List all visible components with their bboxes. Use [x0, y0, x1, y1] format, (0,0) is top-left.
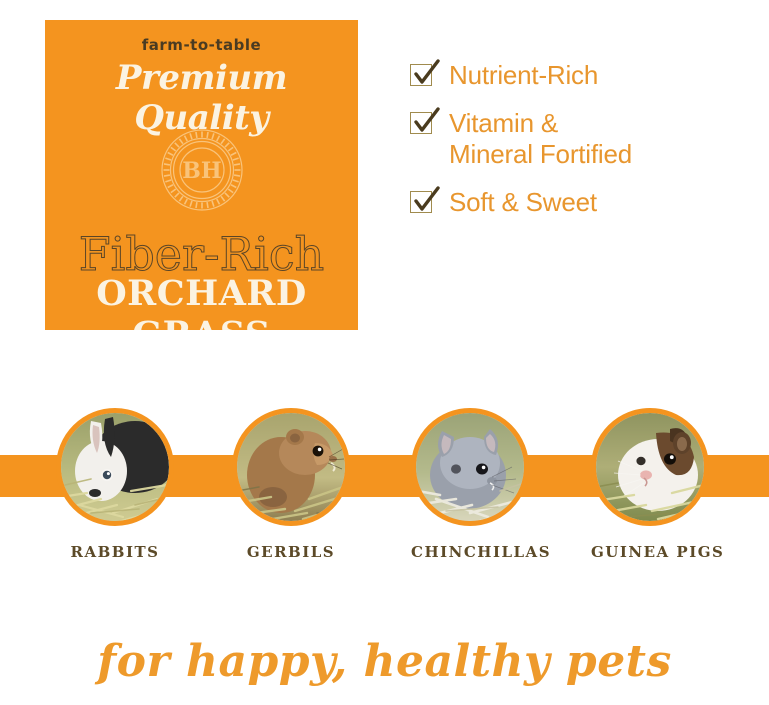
- eyebrow-text: farm-to-table: [45, 36, 358, 54]
- benefit-label: Soft & Sweet: [449, 187, 597, 218]
- rabbit-photo: [56, 408, 174, 526]
- hero-panel: farm-to-table Premium Quality: [45, 20, 358, 330]
- chinchilla-photo: [411, 408, 529, 526]
- checkbox-checked-icon: [410, 191, 435, 216]
- animal-label: RABBITS: [56, 543, 174, 561]
- brand-seal-icon: BH: [160, 128, 244, 212]
- benefits-checklist: Nutrient-Rich Vitamin & Mineral Fortifie…: [410, 60, 740, 235]
- premium-quality-script: Premium Quality: [45, 58, 358, 138]
- benefit-item-soft-sweet: Soft & Sweet: [410, 187, 740, 218]
- product-name-secondary: ORCHARD GRASS: [45, 273, 358, 330]
- benefit-item-nutrient-rich: Nutrient-Rich: [410, 60, 740, 91]
- animal-item-chinchillas[interactable]: CHINCHILLAS: [411, 408, 529, 561]
- benefit-item-vitamin-mineral: Vitamin & Mineral Fortified: [410, 108, 740, 170]
- guinea-pig-photo: [591, 408, 709, 526]
- animal-item-guinea-pigs[interactable]: GUINEA PIGS: [591, 408, 709, 561]
- seal-monogram-text: BH: [182, 158, 221, 184]
- benefit-label: Vitamin & Mineral Fortified: [449, 108, 632, 170]
- animal-item-rabbits[interactable]: RABBITS: [56, 408, 174, 561]
- footer-tagline: for happy, healthy pets: [0, 636, 769, 687]
- gerbil-photo: [232, 408, 350, 526]
- animal-label: CHINCHILLAS: [411, 543, 529, 561]
- checkbox-checked-icon: [410, 64, 435, 89]
- checkbox-checked-icon: [410, 112, 435, 137]
- benefit-label: Nutrient-Rich: [449, 60, 598, 91]
- animal-item-gerbils[interactable]: GERBILS: [232, 408, 350, 561]
- animal-label: GERBILS: [232, 543, 350, 561]
- animal-label: GUINEA PIGS: [591, 543, 709, 561]
